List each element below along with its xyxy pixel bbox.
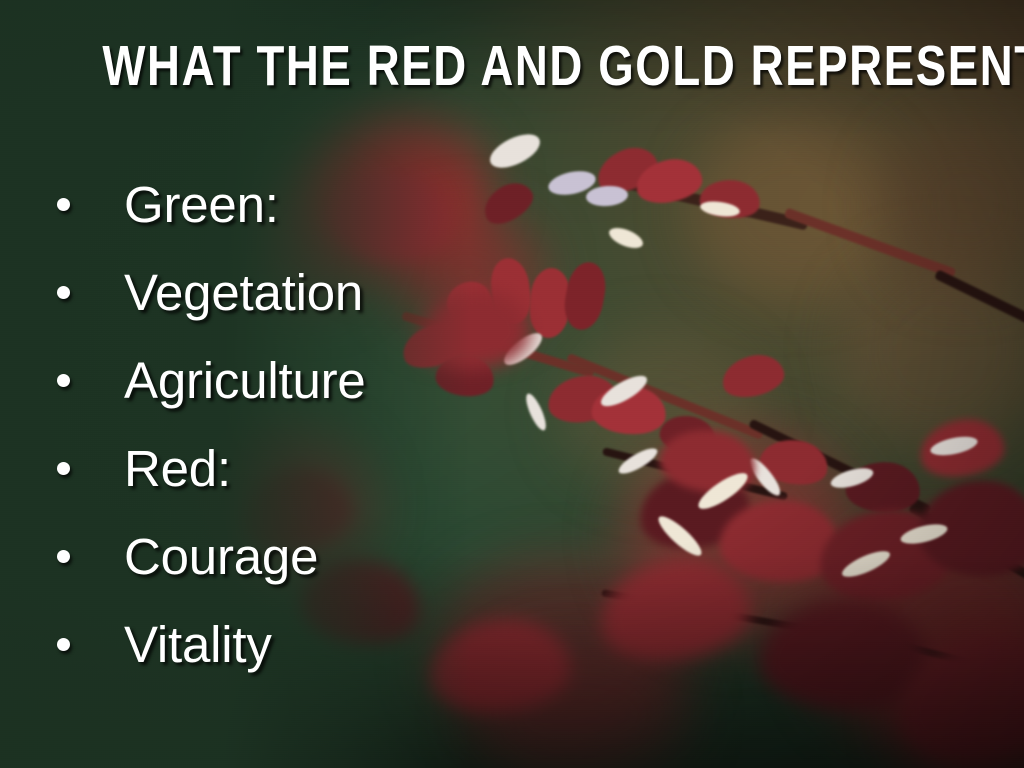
bullet-label: Courage: [124, 531, 318, 582]
bullet-list: Green: Vegetation Agriculture Red: Coura…: [0, 160, 620, 688]
list-item: Green:: [0, 160, 620, 248]
list-item: Courage: [0, 512, 620, 600]
bullet-label: Vitality: [124, 619, 272, 670]
bullet-dot-icon: [57, 638, 70, 651]
list-item: Agriculture: [0, 336, 620, 424]
bullet-label: Agriculture: [124, 355, 366, 406]
bullet-dot-icon: [57, 286, 70, 299]
bullet-dot-icon: [57, 462, 70, 475]
slide-title: WHAT THE RED AND GOLD REPRESENTS: [102, 38, 921, 95]
list-item: Vitality: [0, 600, 620, 688]
bullet-dot-icon: [57, 198, 70, 211]
bullet-dot-icon: [57, 550, 70, 563]
list-item: Red:: [0, 424, 620, 512]
bullet-label: Vegetation: [124, 267, 363, 318]
list-item: Vegetation: [0, 248, 620, 336]
bullet-dot-icon: [57, 374, 70, 387]
slide-content: WHAT THE RED AND GOLD REPRESENTS Green: …: [0, 0, 1024, 768]
bullet-label: Red:: [124, 443, 231, 494]
slide: WHAT THE RED AND GOLD REPRESENTS Green: …: [0, 0, 1024, 768]
bullet-label: Green:: [124, 179, 279, 230]
